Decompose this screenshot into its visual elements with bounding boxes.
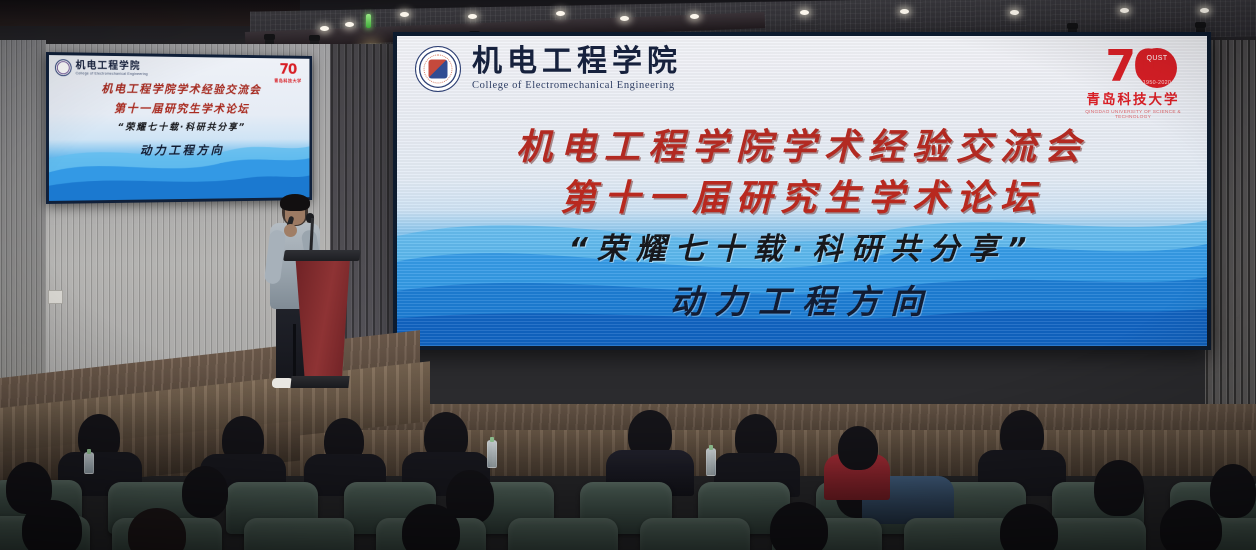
ceiling-downlight xyxy=(320,26,329,31)
ceiling-downlight xyxy=(1010,10,1019,15)
water-bottle xyxy=(706,448,716,476)
audience-head xyxy=(22,500,82,550)
ceiling-downlight xyxy=(800,10,809,15)
green-indicator-light xyxy=(366,14,371,28)
presenter-hair xyxy=(280,194,310,211)
presenter-leg-gap xyxy=(293,324,296,382)
auditorium-scene: 机电工程学院 College of Electromechanical Engi… xyxy=(0,0,1256,550)
wall-right-slatted xyxy=(1205,40,1256,460)
university-name-cn: 青岛科技大学 xyxy=(1073,94,1193,108)
main-led-screen[interactable]: 机电工程学院 College of Electromechanical Engi… xyxy=(393,32,1211,350)
ceiling-downlight xyxy=(1120,8,1129,13)
ceiling-downlight xyxy=(468,14,477,19)
water-bottle xyxy=(487,440,497,468)
side-anniversary-number: 70 xyxy=(271,62,305,77)
side-anniversary-logo: 70 青岛科技大学 xyxy=(271,62,305,84)
presenter-hand xyxy=(284,224,297,237)
side-college-name-cn: 机电工程学院 xyxy=(76,61,148,72)
auditorium-seat xyxy=(508,518,618,550)
ceiling-downlight xyxy=(900,9,909,14)
audience-area xyxy=(0,404,1256,550)
anniversary-logo: 70 QUST 1950-2020 青岛科技大学 QINGDAO UNIVERS… xyxy=(1073,44,1193,122)
university-name-en: QINGDAO UNIVERSITY OF SCIENCE & TECHNOLO… xyxy=(1073,110,1193,120)
side-college-name-en: College of Electromechanical Engineering xyxy=(76,71,148,76)
side-university-name-cn: 青岛科技大学 xyxy=(271,78,305,84)
water-bottle xyxy=(84,452,94,474)
ceiling-downlight xyxy=(1200,8,1209,13)
ceiling-downlight xyxy=(690,14,699,19)
auditorium-seat xyxy=(640,518,750,550)
university-emblem-icon xyxy=(415,46,461,92)
audience-head xyxy=(838,426,878,470)
audience-head xyxy=(1210,464,1256,518)
ceiling-downlight xyxy=(556,11,565,16)
auditorium-seat xyxy=(244,518,354,550)
headline-2: 第十一届研究生学术论坛 xyxy=(397,181,1207,217)
side-screen-headlines: 机电工程学院学术经验交流会 第十一届研究生学术论坛 “荣耀七十载·科研共分享” … xyxy=(49,83,309,156)
main-screen-header: 机电工程学院 College of Electromechanical Engi… xyxy=(415,46,682,92)
university-emblem-icon xyxy=(55,59,72,76)
anniversary-mark-text: QUST xyxy=(1141,55,1173,64)
podium-top-surface xyxy=(283,250,361,261)
audience-head xyxy=(770,502,828,550)
side-headline-1: 机电工程学院学术经验交流会 xyxy=(49,83,309,96)
wall-outlet-plate xyxy=(48,290,63,304)
ceiling-downlight xyxy=(400,12,409,17)
side-headline-4: 动力工程方向 xyxy=(49,144,309,157)
audience-head xyxy=(182,466,228,518)
college-name-en: College of Electromechanical Engineering xyxy=(472,80,682,91)
ceiling-downlight xyxy=(620,16,629,21)
ceiling-downlight xyxy=(345,22,354,27)
audience-head xyxy=(1160,500,1222,550)
auditorium-seat xyxy=(904,518,1014,550)
main-screen-headlines: 机电工程学院学术经验交流会 第十一届研究生学术论坛 “荣耀七十载·科研共分享” … xyxy=(397,130,1207,318)
side-screen-header: 机电工程学院 College of Electromechanical Engi… xyxy=(55,59,148,77)
audience-head xyxy=(1094,460,1144,516)
anniversary-years: 1950-2020 xyxy=(1136,80,1178,86)
headline-4: 动力工程方向 xyxy=(397,285,1207,318)
side-headline-2: 第十一届研究生学术论坛 xyxy=(49,103,309,115)
headline-3: “荣耀七十载·科研共分享” xyxy=(397,235,1207,265)
headline-1: 机电工程学院学术经验交流会 xyxy=(397,130,1207,166)
audience-head xyxy=(1000,504,1058,550)
side-headline-3: “荣耀七十载·科研共分享” xyxy=(49,123,309,132)
college-name-cn: 机电工程学院 xyxy=(472,47,682,77)
side-display-screen[interactable]: 机电工程学院 College of Electromechanical Engi… xyxy=(46,52,312,204)
podium-base xyxy=(290,376,349,388)
